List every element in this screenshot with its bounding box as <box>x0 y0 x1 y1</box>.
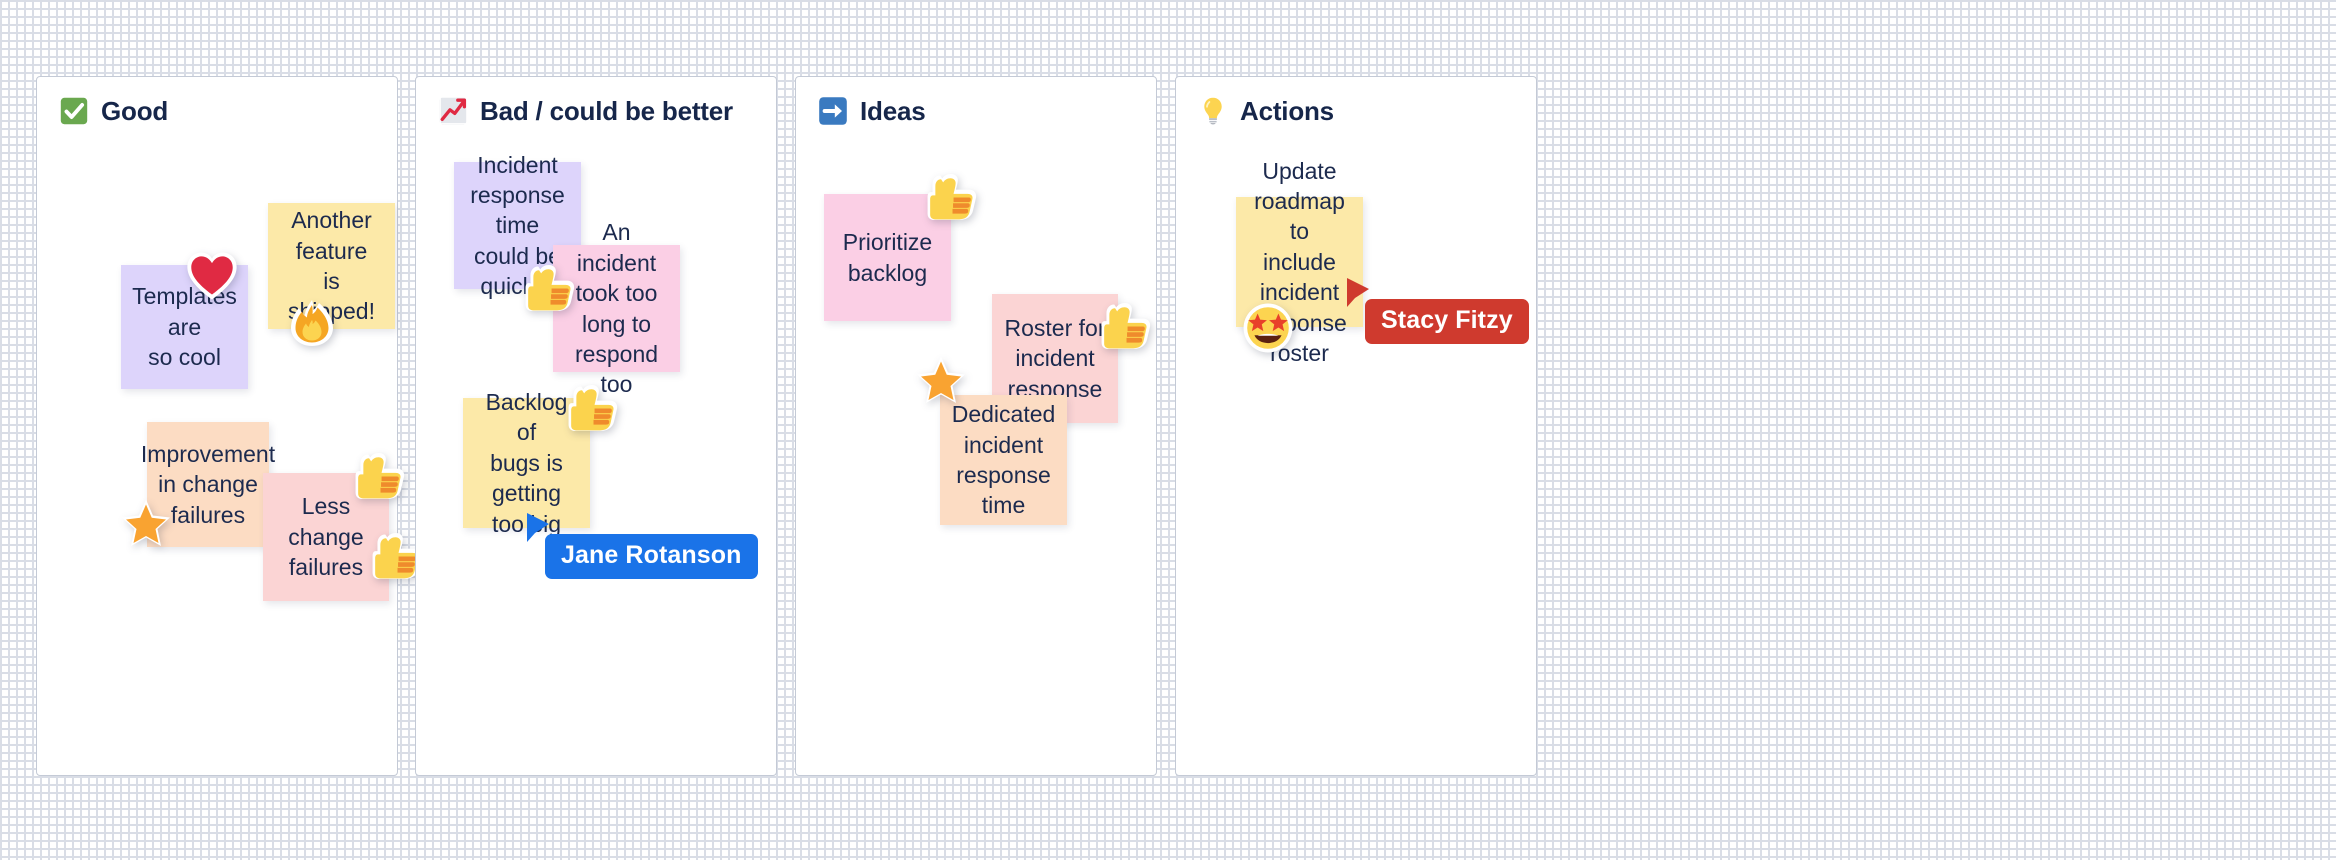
grid-line-vertical <box>1945 0 1946 860</box>
column-title-good: Good <box>101 96 168 127</box>
column-title-ideas: Ideas <box>860 96 926 127</box>
column-header-ideas: Ideas <box>796 77 1156 121</box>
light-bulb-emoji <box>1198 96 1228 126</box>
note-text: Backlog ofbugs is gettingtoo big <box>475 387 578 539</box>
column-actions[interactable]: ActionsUpdateroadmap toinclude incidentr… <box>1175 76 1537 776</box>
note-text: Dedicatedincidentresponse time <box>952 399 1056 520</box>
note-text: An incidenttook too long torespond too <box>565 217 668 399</box>
column-title-actions: Actions <box>1240 96 1334 127</box>
thumbs-up-sticker[interactable] <box>524 263 576 315</box>
grid-line-vertical <box>785 0 786 860</box>
grid-line-vertical <box>1655 0 1656 860</box>
column-ideas[interactable]: IdeasPrioritizebacklogRoster forincident… <box>795 76 1157 776</box>
thumbs-up-sticker[interactable] <box>567 383 619 435</box>
note-text: Roster forincidentresponse <box>1005 313 1106 404</box>
grid-line-horizontal <box>0 25 2336 26</box>
thumbs-up-sticker[interactable] <box>1100 301 1152 353</box>
column-header-good: Good <box>37 77 397 121</box>
star-struck-sticker[interactable] <box>1242 302 1294 354</box>
chart-increasing-emoji <box>438 96 468 126</box>
thumbs-up-sticker[interactable] <box>354 451 406 503</box>
red-heart-sticker[interactable] <box>184 248 240 304</box>
right-arrow-emoji <box>818 96 848 126</box>
column-good[interactable]: GoodTemplates areso coolAnother featurei… <box>36 76 398 776</box>
column-bad[interactable]: Bad / could be betterIncidentresponse ti… <box>415 76 777 776</box>
note-text: Prioritizebacklog <box>843 227 932 288</box>
column-header-bad: Bad / could be better <box>416 77 776 121</box>
column-header-actions: Actions <box>1176 77 1536 121</box>
note-text: Less changefailures <box>275 491 377 582</box>
check-mark-button-emoji <box>59 96 89 126</box>
note-dedicated-incident-response-time[interactable]: Dedicatedincidentresponse time <box>940 395 1067 525</box>
column-title-bad: Bad / could be better <box>480 96 733 127</box>
fire-sticker[interactable] <box>287 298 337 348</box>
star-sticker[interactable] <box>121 498 171 548</box>
retro-board-canvas[interactable]: GoodTemplates areso coolAnother featurei… <box>0 0 2336 860</box>
star-sticker[interactable] <box>916 355 966 405</box>
thumbs-up-sticker[interactable] <box>926 172 978 224</box>
grid-line-vertical <box>2235 0 2236 860</box>
